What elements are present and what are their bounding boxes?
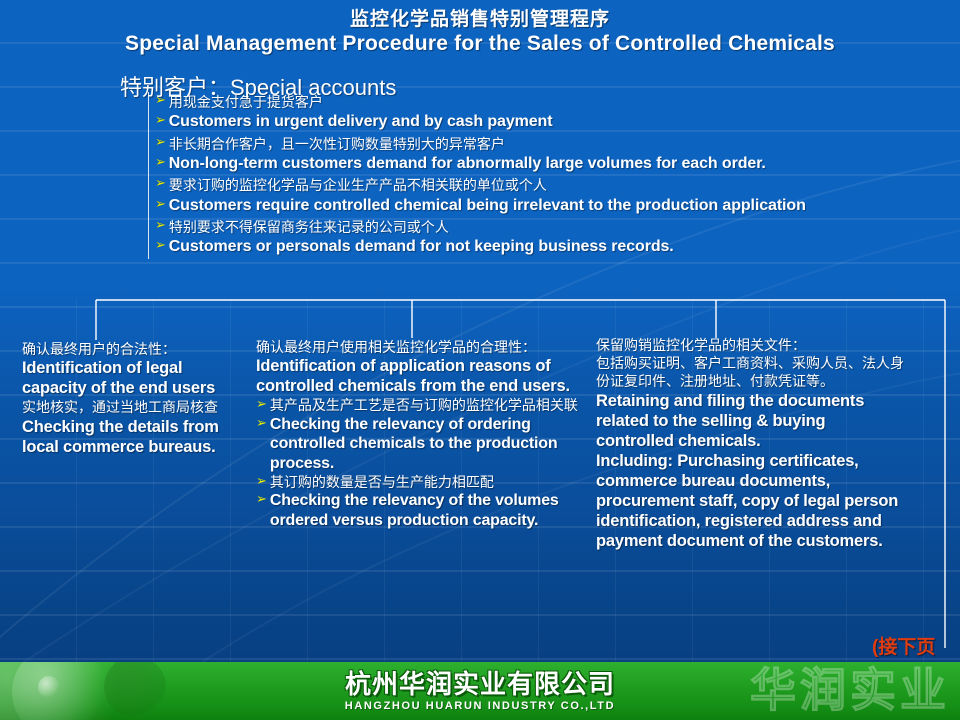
bullet-arrow-icon: ➢: [155, 196, 166, 212]
special-accounts-bullet-list: ➢用现金支付急于提货客户➢Customers in urgent deliver…: [148, 92, 960, 259]
footer-banner: 华润实业 杭州华润实业有限公司 HANGZHOU HUARUN INDUSTRY…: [0, 662, 960, 720]
bullet-text: Customers or personals demand for not ke…: [169, 237, 674, 257]
bullet-arrow-icon: ➢: [155, 237, 166, 253]
column-line-text: 包括购买证明、客户工商资料、采购人员、法人身份证复印件、注册地址、付款凭证等。: [596, 354, 906, 390]
bullet-arrow-icon: ➢: [155, 134, 166, 150]
column-line-text: 确认最终用户使用相关监控化学品的合理性：: [256, 338, 586, 356]
bullet-arrow-icon: ➢: [155, 154, 166, 170]
slide-title-chinese: 监控化学品销售特别管理程序: [0, 4, 960, 31]
column-legal-capacity: 确认最终用户的合法性：Identification of legal capac…: [22, 340, 244, 457]
bullet-text: Non-long-term customers demand for abnor…: [169, 154, 766, 174]
column-bullet-item: ➢Checking the relevancy of the volumes o…: [256, 491, 586, 530]
column-bullet-item: ➢其产品及生产工艺是否与订购的监控化学品相关联: [256, 396, 586, 414]
column-line-text: Identification of legal capacity of the …: [22, 358, 244, 398]
footer-company-chinese: 杭州华润实业有限公司: [345, 671, 615, 697]
bullet-arrow-icon: ➢: [256, 415, 267, 432]
bullet-item: ➢Customers or personals demand for not k…: [155, 237, 960, 257]
bullet-item: ➢Non-long-term customers demand for abno…: [155, 154, 960, 174]
slide-canvas: 监控化学品销售特别管理程序 Special Management Procedu…: [0, 0, 960, 720]
bullet-item: ➢非长期合作客户，且一次性订购数量特别大的异常客户: [155, 134, 960, 153]
column-line-text: Checking the relevancy of ordering contr…: [270, 415, 586, 474]
column-line-text: 其订购的数量是否与生产能力相匹配: [270, 473, 494, 491]
column-line-text: 其产品及生产工艺是否与订购的监控化学品相关联: [270, 396, 578, 414]
bullet-item: ➢用现金支付急于提货客户: [155, 92, 960, 111]
bullet-text: 非长期合作客户，且一次性订购数量特别大的异常客户: [169, 134, 505, 153]
column-bullet-item: ➢Checking the relevancy of ordering cont…: [256, 415, 586, 474]
bullet-arrow-icon: ➢: [256, 491, 267, 508]
bullet-text: Customers require controlled chemical be…: [169, 196, 806, 216]
bullet-arrow-icon: ➢: [155, 112, 166, 128]
column-line-text: Identification of application reasons of…: [256, 356, 586, 396]
column-line-text: Retaining and filing the documents relat…: [596, 391, 906, 451]
bullet-arrow-icon: ➢: [155, 217, 166, 233]
column-document-retention: 保留购销监控化学品的相关文件：包括购买证明、客户工商资料、采购人员、法人身份证复…: [596, 336, 906, 552]
continued-next-page-note: (接下页: [872, 632, 935, 659]
bullet-text: Customers in urgent delivery and by cash…: [169, 112, 553, 132]
bullet-arrow-icon: ➢: [155, 175, 166, 191]
bullet-text: 要求订购的监控化学品与企业生产产品不相关联的单位或个人: [169, 175, 547, 194]
bullet-item: ➢要求订购的监控化学品与企业生产产品不相关联的单位或个人: [155, 175, 960, 194]
column-line-text: Checking the details from local commerce…: [22, 417, 244, 457]
bullet-arrow-icon: ➢: [256, 396, 267, 413]
bullet-text: 特别要求不得保留商务往来记录的公司或个人: [169, 217, 449, 236]
column-line-text: Checking the relevancy of the volumes or…: [270, 491, 586, 530]
column-bullet-item: ➢其订购的数量是否与生产能力相匹配: [256, 473, 586, 491]
column-line-text: 实地核实，通过当地工商局核查: [22, 398, 244, 416]
footer-company-english: HANGZHOU HUARUN INDUSTRY CO.,LTD: [345, 701, 615, 712]
column-line-text: 确认最终用户的合法性：: [22, 340, 244, 358]
bullet-item: ➢Customers in urgent delivery and by cas…: [155, 112, 960, 132]
column-line-text: 保留购销监控化学品的相关文件：: [596, 336, 906, 354]
footer-company-block: 杭州华润实业有限公司 HANGZHOU HUARUN INDUSTRY CO.,…: [0, 662, 960, 720]
column-application-reasons: 确认最终用户使用相关监控化学品的合理性：Identification of ap…: [256, 338, 586, 530]
bullet-item: ➢Customers require controlled chemical b…: [155, 196, 960, 216]
bullet-arrow-icon: ➢: [256, 473, 267, 490]
slide-title-english: Special Management Procedure for the Sal…: [0, 32, 960, 56]
column-line-text: Including: Purchasing certificates, comm…: [596, 451, 906, 552]
bullet-item: ➢特别要求不得保留商务往来记录的公司或个人: [155, 217, 960, 236]
bullet-text: 用现金支付急于提货客户: [169, 92, 323, 111]
bullet-arrow-icon: ➢: [155, 92, 166, 108]
